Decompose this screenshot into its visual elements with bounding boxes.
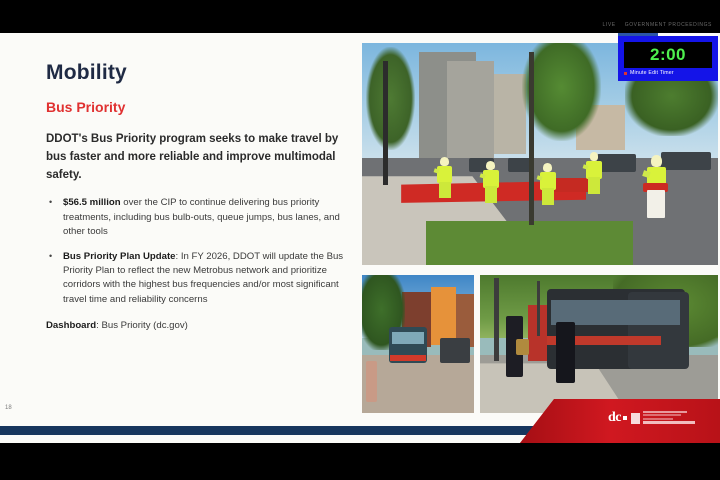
slide-page-number: 18 xyxy=(5,405,12,411)
video-frame: Mobility Bus Priority DDOT's Bus Priorit… xyxy=(0,0,720,480)
timer-value: 2:00 xyxy=(650,45,686,65)
dc-government-logo: dc xyxy=(608,411,695,425)
light-pole xyxy=(383,61,388,185)
seal-icon xyxy=(631,413,640,424)
bullet-list: • $56.5 million over the CIP to continue… xyxy=(46,196,346,306)
light-pole xyxy=(537,281,540,336)
light-pole xyxy=(494,278,499,361)
list-item: • Bus Priority Plan Update: In FY 2026, … xyxy=(46,250,346,307)
pedestrian xyxy=(506,316,523,377)
slide-subtitle: Bus Priority xyxy=(46,99,346,115)
rowhouse xyxy=(431,287,456,345)
dashboard-label: Dashboard xyxy=(46,320,96,331)
street-tree-trunk xyxy=(529,52,533,225)
countdown-timer-widget[interactable]: 2:00 Minute Edit Timer xyxy=(618,36,718,81)
pedestrian xyxy=(366,361,376,402)
tree xyxy=(366,47,416,149)
parked-car xyxy=(597,154,636,172)
photo-metrobus-at-stop xyxy=(480,275,718,413)
building xyxy=(447,61,493,159)
timer-label: Minute Edit Timer xyxy=(624,70,674,76)
letterbox-bottom xyxy=(0,443,720,480)
pedestrian xyxy=(556,322,575,383)
building xyxy=(494,74,526,154)
parked-car xyxy=(661,152,711,170)
list-item: • $56.5 million over the CIP to continue… xyxy=(46,196,346,239)
logo-wordmark: dc xyxy=(608,411,621,425)
grass-strip xyxy=(426,221,632,265)
paint-bucket xyxy=(647,190,665,219)
worker xyxy=(483,158,499,202)
dashboard-link: Bus Priority (dc.gov) xyxy=(101,320,187,331)
dashboard-line: Dashboard: Bus Priority (dc.gov) xyxy=(46,320,346,331)
bag xyxy=(516,339,529,355)
parked-car xyxy=(440,338,469,363)
bullet-lead-in: $56.5 million xyxy=(63,197,121,208)
photo-bus-on-residential-street xyxy=(362,275,474,413)
timer-label-text: Minute Edit Timer xyxy=(630,70,674,76)
broadcast-header-item-live: LIVE xyxy=(602,22,615,28)
letterbox-top xyxy=(0,0,720,33)
logo-agency-text xyxy=(643,411,695,425)
record-dot-icon xyxy=(624,72,627,75)
slide-lead-paragraph: DDOT's Bus Priority program seeks to mak… xyxy=(46,131,346,184)
bullet-dot-icon: • xyxy=(49,196,52,209)
bus-windshield xyxy=(392,332,423,344)
roadway xyxy=(362,355,474,413)
worker xyxy=(540,161,556,205)
bus-tail-light xyxy=(390,355,426,361)
bullet-lead-in: Bus Priority Plan Update xyxy=(63,251,175,262)
star-icon xyxy=(623,416,627,420)
broadcast-header-item-proceedings: GOVERNMENT PROCEEDINGS xyxy=(625,22,712,28)
worker xyxy=(437,154,453,198)
slide-content: Mobility Bus Priority DDOT's Bus Priorit… xyxy=(46,61,346,331)
worker xyxy=(586,150,602,194)
presentation-slide: Mobility Bus Priority DDOT's Bus Priorit… xyxy=(0,33,720,443)
broadcast-header-text: LIVE GOVERNMENT PROCEEDINGS xyxy=(595,22,712,28)
bullet-dot-icon: • xyxy=(49,250,52,263)
page-title: Mobility xyxy=(46,61,346,85)
timer-display: 2:00 xyxy=(624,42,712,68)
bus-windows xyxy=(551,300,680,325)
tree xyxy=(522,43,600,141)
